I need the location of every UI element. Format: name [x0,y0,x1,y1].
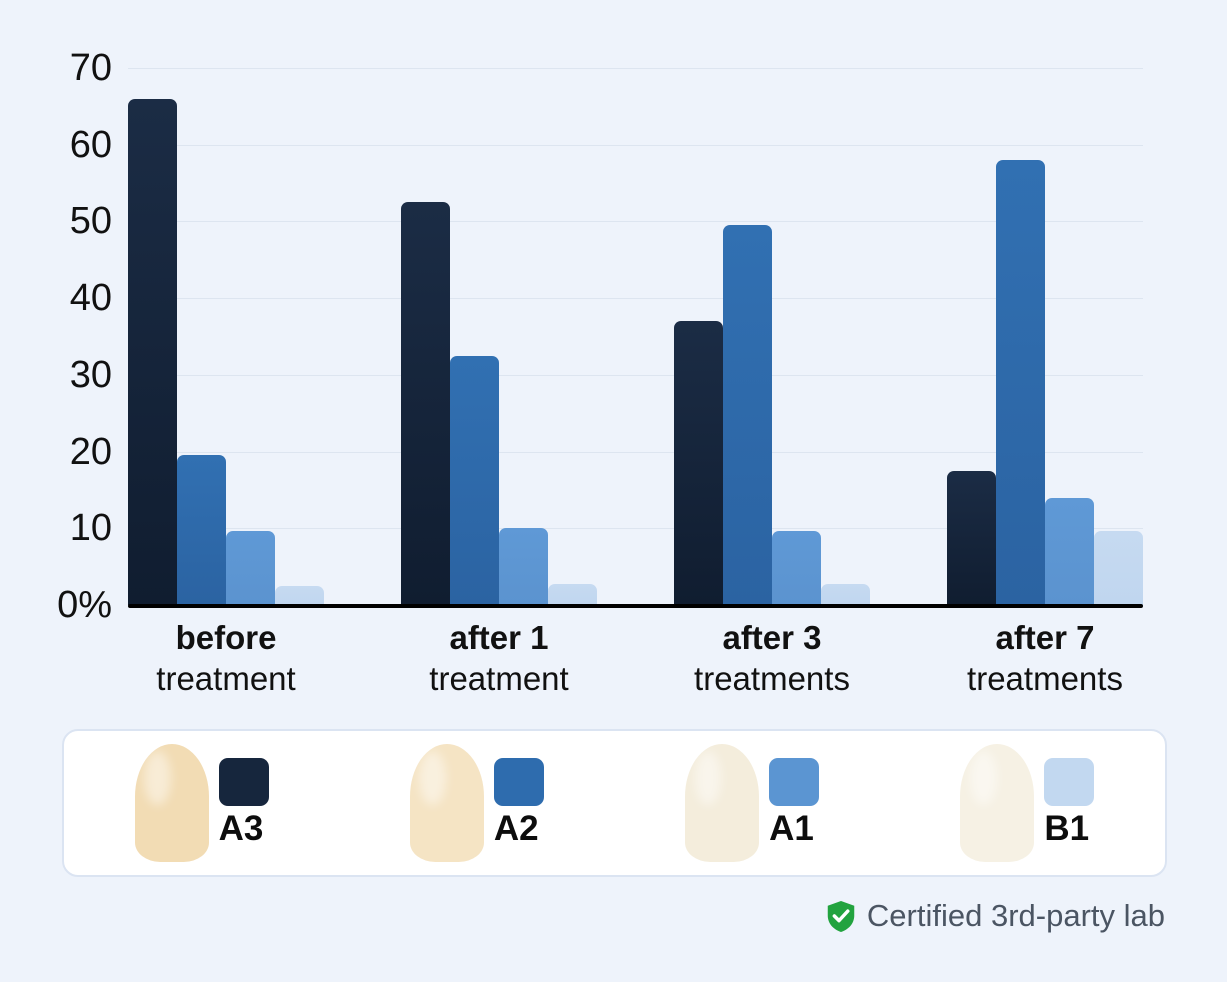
tooth-shade-icon [960,744,1034,862]
tooth-shade-icon [135,744,209,862]
legend-item-b1[interactable]: B1 [890,731,1165,875]
bar-a3[interactable] [674,321,723,605]
legend-swatch-column: A2 [494,758,544,849]
legend-shade-label: A1 [769,810,814,849]
bar-a1[interactable] [499,528,548,605]
x-tick-label: after 1treatment [401,617,597,701]
legend-item-a2[interactable]: A2 [339,731,614,875]
shield-check-icon [826,900,856,933]
bar-a2[interactable] [177,455,226,605]
x-tick-label-line1: after 7 [947,617,1143,658]
x-tick-label-line1: after 1 [401,617,597,658]
tooth-shade-icon [685,744,759,862]
plot-area [128,68,1143,605]
shade-legend: A3A2A1B1 [62,729,1167,877]
legend-color-swatch [494,758,544,806]
y-tick-label: 60 [70,126,112,164]
bar-a1[interactable] [1045,498,1094,605]
y-axis-tick-labels: 706050403020100% [0,68,112,605]
y-tick-label: 70 [70,49,112,87]
legend-color-swatch [1044,758,1094,806]
x-tick-label-line2: treatments [674,658,870,701]
legend-shade-label: A3 [219,810,264,849]
x-axis-line [128,604,1143,608]
x-tick-label: after 3treatments [674,617,870,701]
bar-b1[interactable] [548,584,597,605]
legend-swatch-column: A1 [769,758,819,849]
bar-b1[interactable] [821,584,870,605]
certified-lab-label: Certified 3rd-party lab [867,898,1165,934]
legend-shade-label: A2 [494,810,539,849]
legend-shade-label: B1 [1044,810,1089,849]
bar-group [674,68,870,605]
bar-group [401,68,597,605]
x-tick-label: after 7treatments [947,617,1143,701]
bar-chart: 706050403020100% beforetreatmentafter 1t… [0,0,1227,715]
x-axis-tick-labels: beforetreatmentafter 1treatmentafter 3tr… [128,617,1143,701]
x-tick-label-line1: before [128,617,324,658]
tooth-shade-icon [410,744,484,862]
bar-a3[interactable] [128,99,177,605]
bar-b1[interactable] [1094,531,1143,605]
x-tick-label-line2: treatment [401,658,597,701]
bar-groups [128,68,1143,605]
y-tick-label: 20 [70,433,112,471]
whitening-shade-chart-page: 706050403020100% beforetreatmentafter 1t… [0,0,1227,982]
bar-a1[interactable] [772,531,821,605]
x-tick-label-line2: treatments [947,658,1143,701]
y-tick-label: 50 [70,202,112,240]
certified-lab-badge: Certified 3rd-party lab [826,898,1165,934]
bar-a3[interactable] [401,202,450,605]
bar-a2[interactable] [996,160,1045,605]
legend-swatch-column: A3 [219,758,269,849]
y-tick-label: 0% [57,586,112,624]
bar-a2[interactable] [450,356,499,605]
bar-group [128,68,324,605]
x-tick-label: beforetreatment [128,617,324,701]
legend-color-swatch [769,758,819,806]
legend-color-swatch [219,758,269,806]
legend-item-a1[interactable]: A1 [615,731,890,875]
bar-a3[interactable] [947,471,996,605]
bar-a2[interactable] [723,225,772,605]
y-tick-label: 40 [70,279,112,317]
x-tick-label-line1: after 3 [674,617,870,658]
legend-swatch-column: B1 [1044,758,1094,849]
bar-group [947,68,1143,605]
bar-a1[interactable] [226,531,275,605]
x-tick-label-line2: treatment [128,658,324,701]
bar-b1[interactable] [275,586,324,605]
legend-item-a3[interactable]: A3 [64,731,339,875]
y-tick-label: 30 [70,356,112,394]
y-tick-label: 10 [70,509,112,547]
